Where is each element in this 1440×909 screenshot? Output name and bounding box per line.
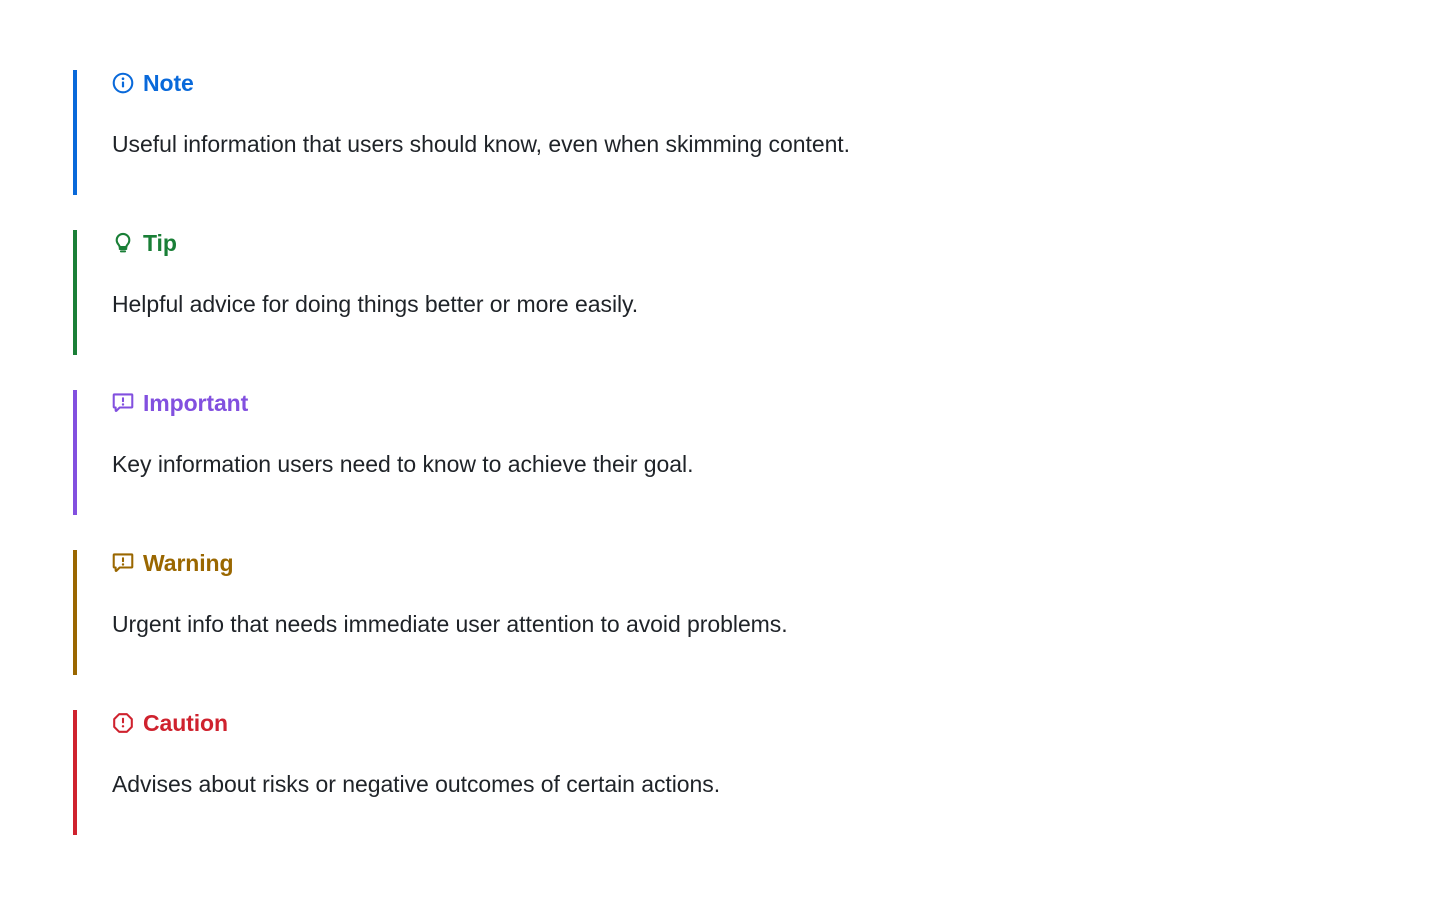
alert-tip-heading: Tip [112,230,1373,256]
alert-tip-title: Tip [143,230,177,256]
light-bulb-icon [112,232,134,254]
alert-important-title: Important [143,390,248,416]
alert-note: Note Useful information that users shoul… [73,70,1373,195]
alert-important-heading: Important [112,390,1373,416]
alert-caution: Caution Advises about risks or negative … [73,710,1373,835]
alert-caution-heading: Caution [112,710,1373,736]
alert-note-heading: Note [112,70,1373,96]
alert-note-title: Note [143,70,194,96]
octagon-exclamation-icon [112,712,134,734]
alert-tip-body: Helpful advice for doing things better o… [112,256,1373,321]
markdown-alerts-container: Note Useful information that users shoul… [73,70,1373,835]
comment-exclamation-icon [112,552,134,574]
alert-warning: Warning Urgent info that needs immediate… [73,550,1373,675]
alert-important-body: Key information users need to know to ac… [112,416,1373,481]
alert-caution-title: Caution [143,710,228,736]
alert-caution-body: Advises about risks or negative outcomes… [112,736,1373,801]
alert-warning-heading: Warning [112,550,1373,576]
info-circle-icon [112,72,134,94]
alert-warning-title: Warning [143,550,233,576]
comment-exclamation-icon [112,392,134,414]
alert-important: Important Key information users need to … [73,390,1373,515]
alert-warning-body: Urgent info that needs immediate user at… [112,576,1373,641]
alert-tip: Tip Helpful advice for doing things bett… [73,230,1373,355]
alert-note-body: Useful information that users should kno… [112,96,1373,161]
